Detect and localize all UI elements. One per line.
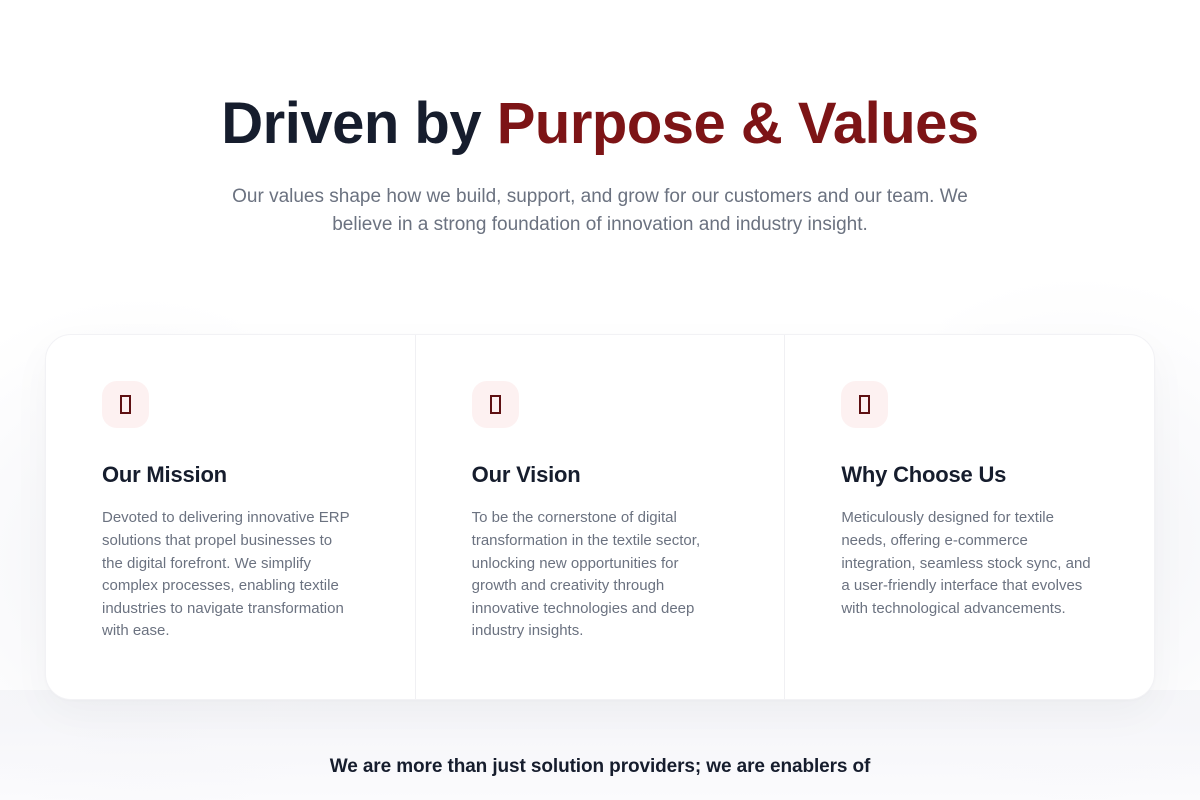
value-card-body: Devoted to delivering innovative ERP sol…	[102, 507, 352, 643]
page-title-lead: Driven by	[221, 91, 496, 156]
section-subtitle: Our values shape how we build, support, …	[220, 183, 980, 239]
value-card-vision: Our Vision To be the cornerstone of digi…	[415, 335, 785, 699]
value-card-title: Our Vision	[472, 462, 729, 488]
value-card-title: Our Mission	[102, 462, 359, 488]
closing-statement: We are more than just solution providers…	[0, 752, 1200, 782]
page-title-accent: Purpose & Values	[497, 91, 979, 156]
missing-glyph-icon	[102, 381, 149, 428]
values-card-group: Our Mission Devoted to delivering innova…	[45, 334, 1155, 700]
tofu-box-shape	[120, 395, 131, 414]
tofu-box-shape	[490, 395, 501, 414]
value-card-why-choose-us: Why Choose Us Meticulously designed for …	[784, 335, 1154, 699]
value-card-mission: Our Mission Devoted to delivering innova…	[46, 335, 415, 699]
tofu-box-shape	[859, 395, 870, 414]
page-title: Driven by Purpose & Values	[0, 92, 1200, 157]
value-card-body: Meticulously designed for textile needs,…	[841, 507, 1091, 620]
values-section-page: Driven by Purpose & Values Our values sh…	[0, 0, 1200, 800]
missing-glyph-icon	[472, 381, 519, 428]
value-card-title: Why Choose Us	[841, 462, 1098, 488]
closing-statement-text: We are more than just solution providers…	[0, 752, 1200, 782]
value-card-body: To be the cornerstone of digital transfo…	[472, 507, 722, 643]
missing-glyph-icon	[841, 381, 888, 428]
section-header: Driven by Purpose & Values Our values sh…	[0, 0, 1200, 239]
